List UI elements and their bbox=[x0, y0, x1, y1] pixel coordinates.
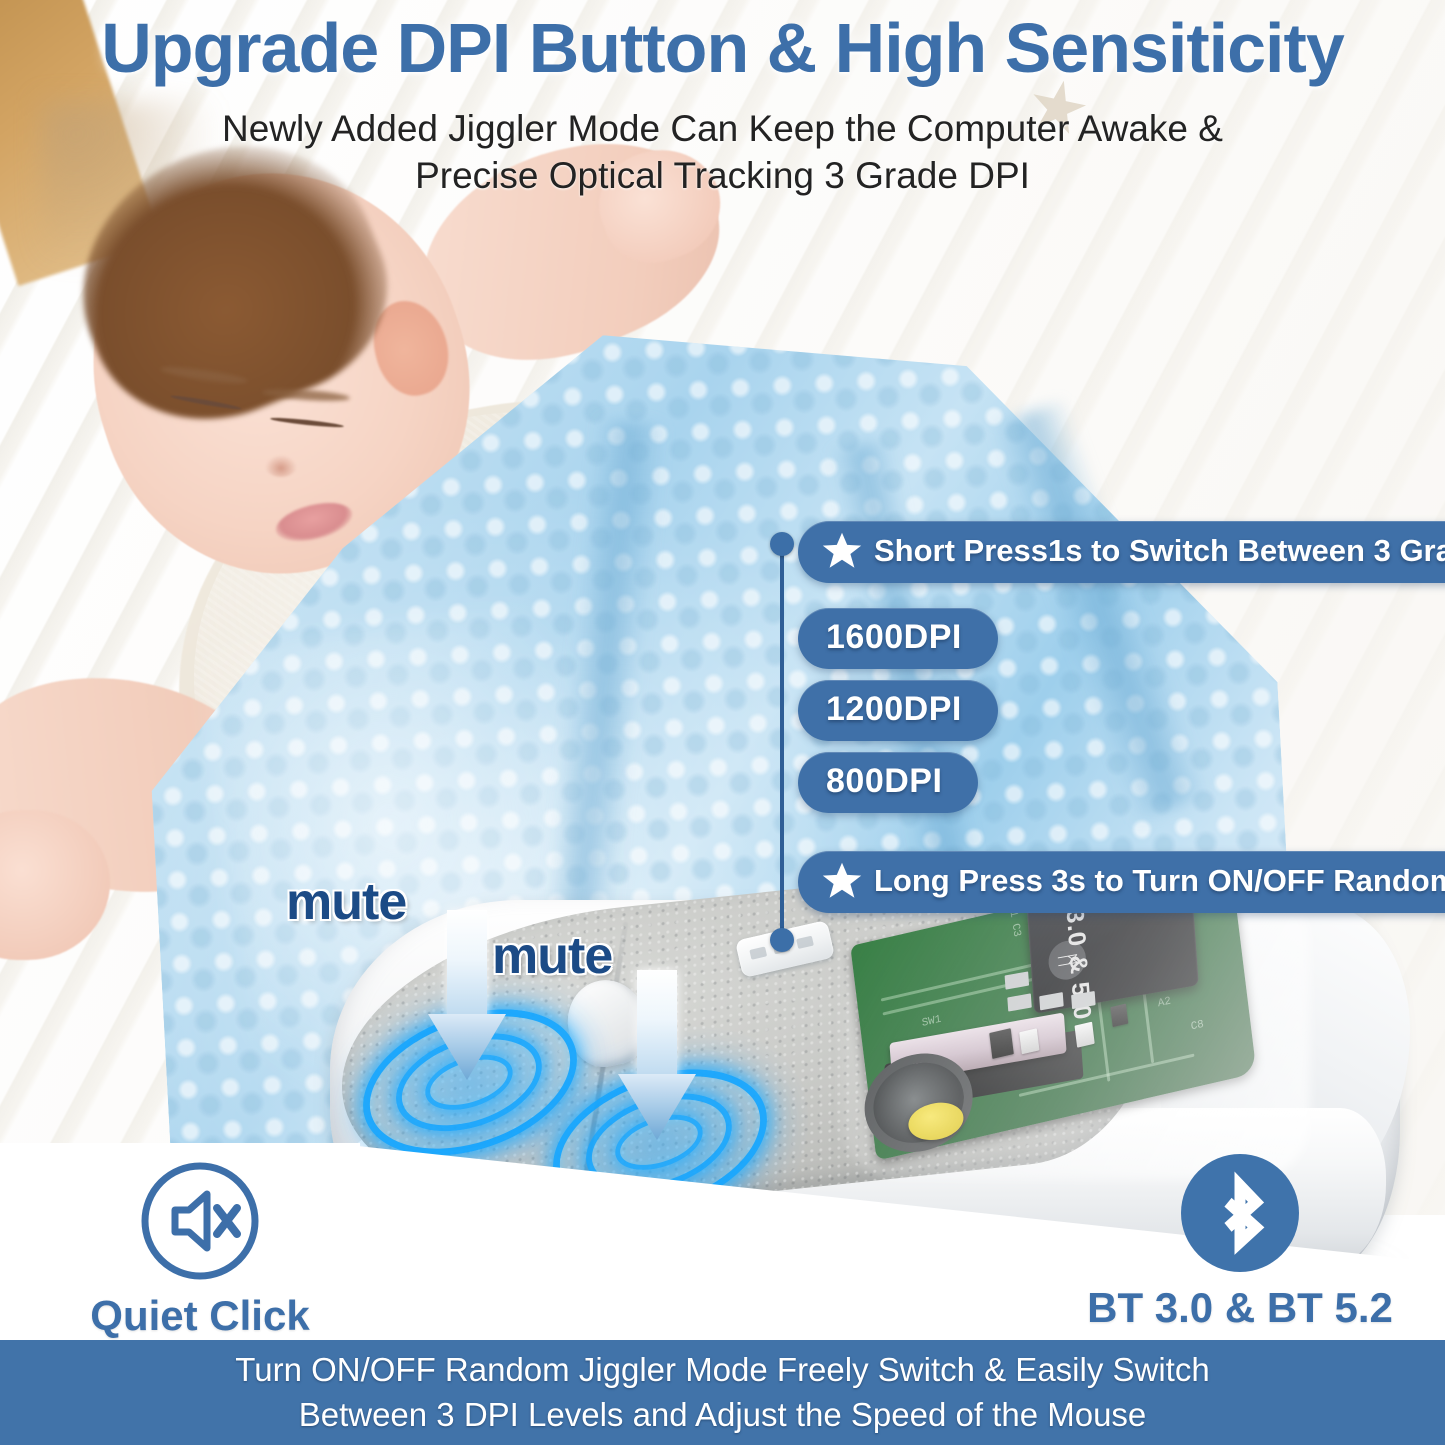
bluetooth-icon bbox=[1177, 1150, 1303, 1276]
callout-short-press-label: Short Press1s to Switch Between 3 Grade … bbox=[874, 533, 1445, 569]
smd-component bbox=[1074, 1022, 1094, 1048]
baby-nose bbox=[265, 455, 297, 477]
smd-component bbox=[1110, 1004, 1128, 1028]
page-subtitle-line-1: Newly Added Jiggler Mode Can Keep the Co… bbox=[0, 108, 1445, 150]
star-icon bbox=[822, 862, 862, 900]
callout-short-press: Short Press1s to Switch Between 3 Grade … bbox=[798, 521, 1445, 583]
arrow-shaft bbox=[637, 970, 677, 1080]
dpi-badge-label: 1200DPI bbox=[826, 690, 962, 729]
feature-bluetooth-label: BT 3.0 & BT 5.2 bbox=[1070, 1284, 1410, 1332]
arrow-head bbox=[428, 1014, 506, 1080]
feature-quiet-click: Quiet Click bbox=[30, 1158, 370, 1340]
feature-bluetooth: BT 3.0 & BT 5.2 bbox=[1070, 1150, 1410, 1332]
mute-label-left: mute bbox=[286, 872, 406, 932]
page-subtitle-line-2: Precise Optical Tracking 3 Grade DPI bbox=[0, 155, 1445, 197]
mute-speaker-icon bbox=[137, 1158, 263, 1284]
dpi-badge-800: 800DPI bbox=[798, 752, 978, 813]
dpi-badge-label: 1600DPI bbox=[826, 618, 962, 657]
connector-stem bbox=[780, 542, 784, 942]
smd-component bbox=[989, 1028, 1014, 1059]
press-down-arrow-icon bbox=[618, 970, 696, 1140]
dpi-button-slot bbox=[749, 946, 767, 959]
smd-component bbox=[1019, 1028, 1039, 1054]
footer-banner: Turn ON/OFF Random Jiggler Mode Freely S… bbox=[0, 1340, 1445, 1445]
callout-connector-line bbox=[770, 532, 794, 952]
callout-long-press-label: Long Press 3s to Turn ON/OFF Random Jigg… bbox=[874, 863, 1445, 899]
footer-line-2: Between 3 DPI Levels and Adjust the Spee… bbox=[299, 1393, 1147, 1437]
callout-long-press: Long Press 3s to Turn ON/OFF Random Jigg… bbox=[798, 851, 1445, 913]
product-infographic: mute mute R1 C3 A2 C8 SW1 ᛗ 3.0 & 5.0 bbox=[0, 0, 1445, 1445]
dpi-badge-1200: 1200DPI bbox=[798, 680, 998, 741]
connector-dot-bottom bbox=[770, 928, 794, 952]
dpi-button-slot bbox=[796, 936, 814, 949]
bluetooth-icon-circle bbox=[1181, 1154, 1299, 1272]
page-title: Upgrade DPI Button & High Sensiticity bbox=[0, 8, 1445, 88]
dpi-badge-1600: 1600DPI bbox=[798, 608, 998, 669]
mute-label-right: mute bbox=[492, 926, 612, 986]
connector-dot-top bbox=[770, 532, 794, 556]
star-icon bbox=[822, 532, 862, 570]
dpi-badge-label: 800DPI bbox=[826, 762, 942, 801]
feature-quiet-click-label: Quiet Click bbox=[30, 1292, 370, 1340]
footer-line-1: Turn ON/OFF Random Jiggler Mode Freely S… bbox=[235, 1348, 1209, 1392]
arrow-shaft bbox=[447, 910, 487, 1020]
arrow-head bbox=[618, 1074, 696, 1140]
